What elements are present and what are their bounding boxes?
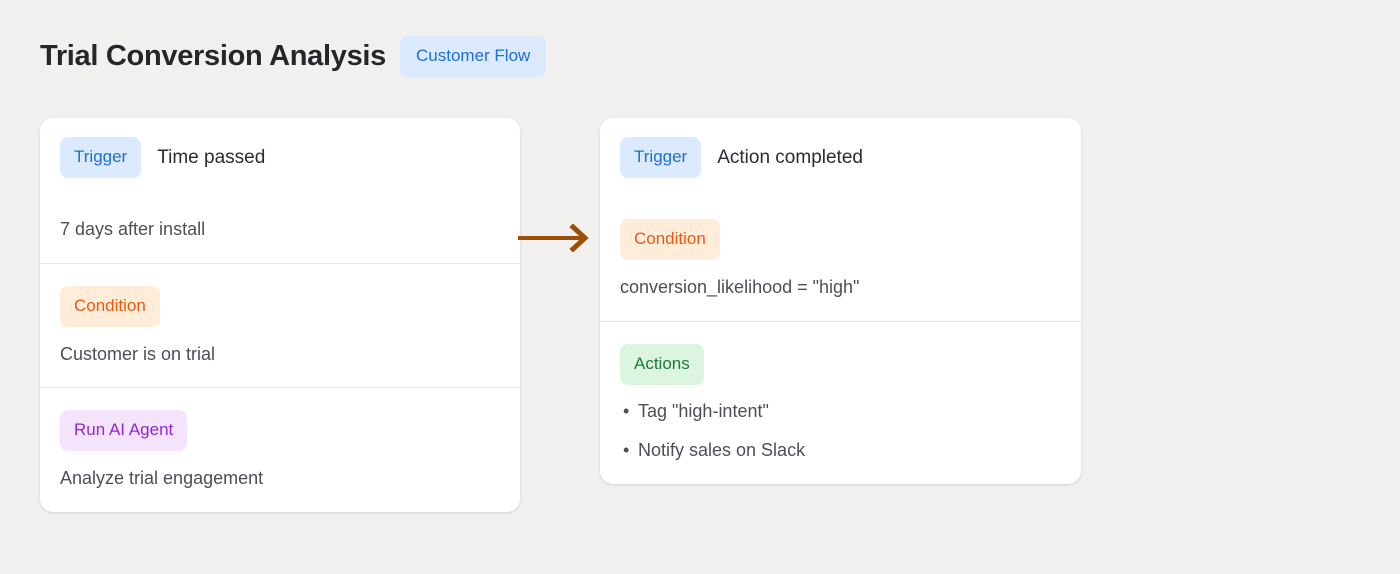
- bullet-dot-icon: •: [623, 440, 629, 462]
- bullet-dot-icon: •: [623, 401, 629, 423]
- badge-actions: Actions: [620, 344, 704, 385]
- section-body: conversion_likelihood = "high": [620, 277, 1061, 299]
- card-section-timing[interactable]: 7 days after install: [40, 197, 520, 263]
- section-body: Analyze trial engagement: [60, 468, 500, 490]
- card-section-condition[interactable]: Condition conversion_likelihood = "high": [600, 197, 1081, 321]
- badge-condition: Condition: [60, 286, 160, 327]
- flow-diagram-page: Trial Conversion Analysis Customer Flow …: [0, 0, 1400, 574]
- badge-run-ai-agent: Run AI Agent: [60, 410, 187, 451]
- list-item-label: Tag "high-intent": [638, 401, 769, 421]
- card-section-trigger[interactable]: Trigger Time passed: [40, 118, 520, 197]
- section-title: Action completed: [717, 148, 863, 167]
- flow-type-badge[interactable]: Customer Flow: [400, 36, 546, 77]
- list-item[interactable]: • Notify sales on Slack: [620, 440, 1061, 462]
- badge-trigger: Trigger: [620, 137, 701, 178]
- card-section-actions[interactable]: Actions • Tag "high-intent" • Notify sal…: [600, 321, 1081, 484]
- list-item-label: Notify sales on Slack: [638, 440, 805, 460]
- card-section-run-ai-agent[interactable]: Run AI Agent Analyze trial engagement: [40, 387, 520, 512]
- page-title: Trial Conversion Analysis: [40, 42, 386, 71]
- card-section-trigger[interactable]: Trigger Action completed: [600, 118, 1081, 197]
- right-flow-card[interactable]: Trigger Action completed Condition conve…: [600, 118, 1081, 484]
- badge-trigger: Trigger: [60, 137, 141, 178]
- section-title: Time passed: [157, 148, 265, 167]
- section-body: Customer is on trial: [60, 344, 500, 366]
- left-flow-card[interactable]: Trigger Time passed 7 days after install…: [40, 118, 520, 512]
- arrow-right-icon: [518, 224, 594, 252]
- actions-list: • Tag "high-intent" • Notify sales on Sl…: [620, 401, 1061, 462]
- section-body: 7 days after install: [60, 219, 500, 241]
- list-item[interactable]: • Tag "high-intent": [620, 401, 1061, 423]
- badge-condition: Condition: [620, 219, 720, 260]
- card-section-condition[interactable]: Condition Customer is on trial: [40, 263, 520, 388]
- page-header: Trial Conversion Analysis Customer Flow: [40, 36, 546, 77]
- flow-connector: [518, 224, 594, 252]
